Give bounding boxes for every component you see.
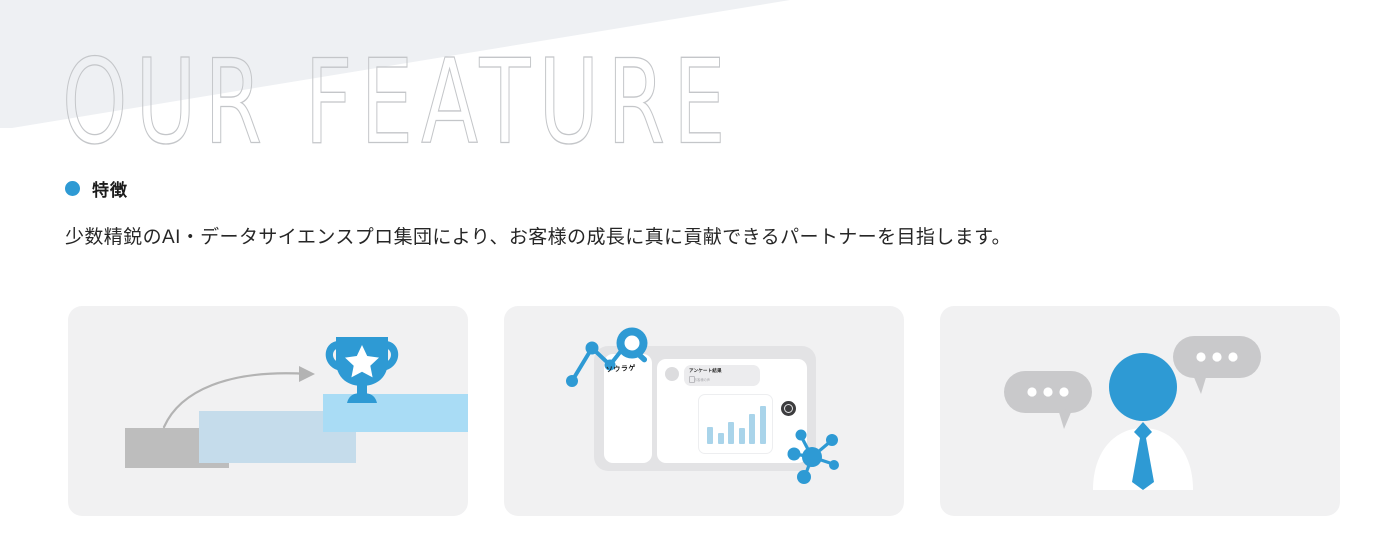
bar-2 xyxy=(718,433,724,444)
bar-1 xyxy=(707,427,713,444)
bar-4 xyxy=(739,428,745,444)
bar-6 xyxy=(760,406,766,444)
bar-5 xyxy=(749,414,755,444)
feature-card-list: アンケート結果 お客様の声 xyxy=(68,306,1340,516)
feature-card-analytics: アンケート結果 お客様の声 xyxy=(504,306,904,516)
section-label-text: 特徴 xyxy=(92,176,128,201)
dashboard-message-title: アンケート結果 xyxy=(689,368,722,374)
bullet-dot-icon xyxy=(65,181,80,196)
line-chart-magnifier-icon xyxy=(562,324,672,394)
speech-bubble-right-icon xyxy=(1171,334,1263,396)
kana-tag: ソウラゲ xyxy=(606,363,637,375)
network-molecule-icon xyxy=(781,426,843,488)
growth-arrow-icon xyxy=(158,361,338,431)
clock-icon xyxy=(784,404,793,413)
speech-bubble-left-icon xyxy=(1002,369,1094,431)
section-label: 特徴 xyxy=(65,176,128,201)
bar-3 xyxy=(728,422,734,444)
dashboard-action-badge[interactable] xyxy=(781,401,796,416)
page-title: OUR FEATURE xyxy=(62,44,734,160)
dashboard-message-bubble: アンケート結果 お客様の声 xyxy=(684,365,760,386)
bar-chart xyxy=(707,406,766,444)
trophy-icon xyxy=(316,331,408,409)
dashboard-chart-card xyxy=(698,394,773,454)
dashboard-message-sub: お客様の声 xyxy=(694,377,710,382)
feature-section: OUR FEATURE 特徴 少数精鋭のAI・データサイエンスプロ集団により、お… xyxy=(0,0,1400,547)
lead-paragraph: 少数精鋭のAI・データサイエンスプロ集団により、お客様の成長に真に貢献できるパー… xyxy=(65,222,1011,249)
feature-card-consulting xyxy=(940,306,1340,516)
feature-card-achievement xyxy=(68,306,468,516)
